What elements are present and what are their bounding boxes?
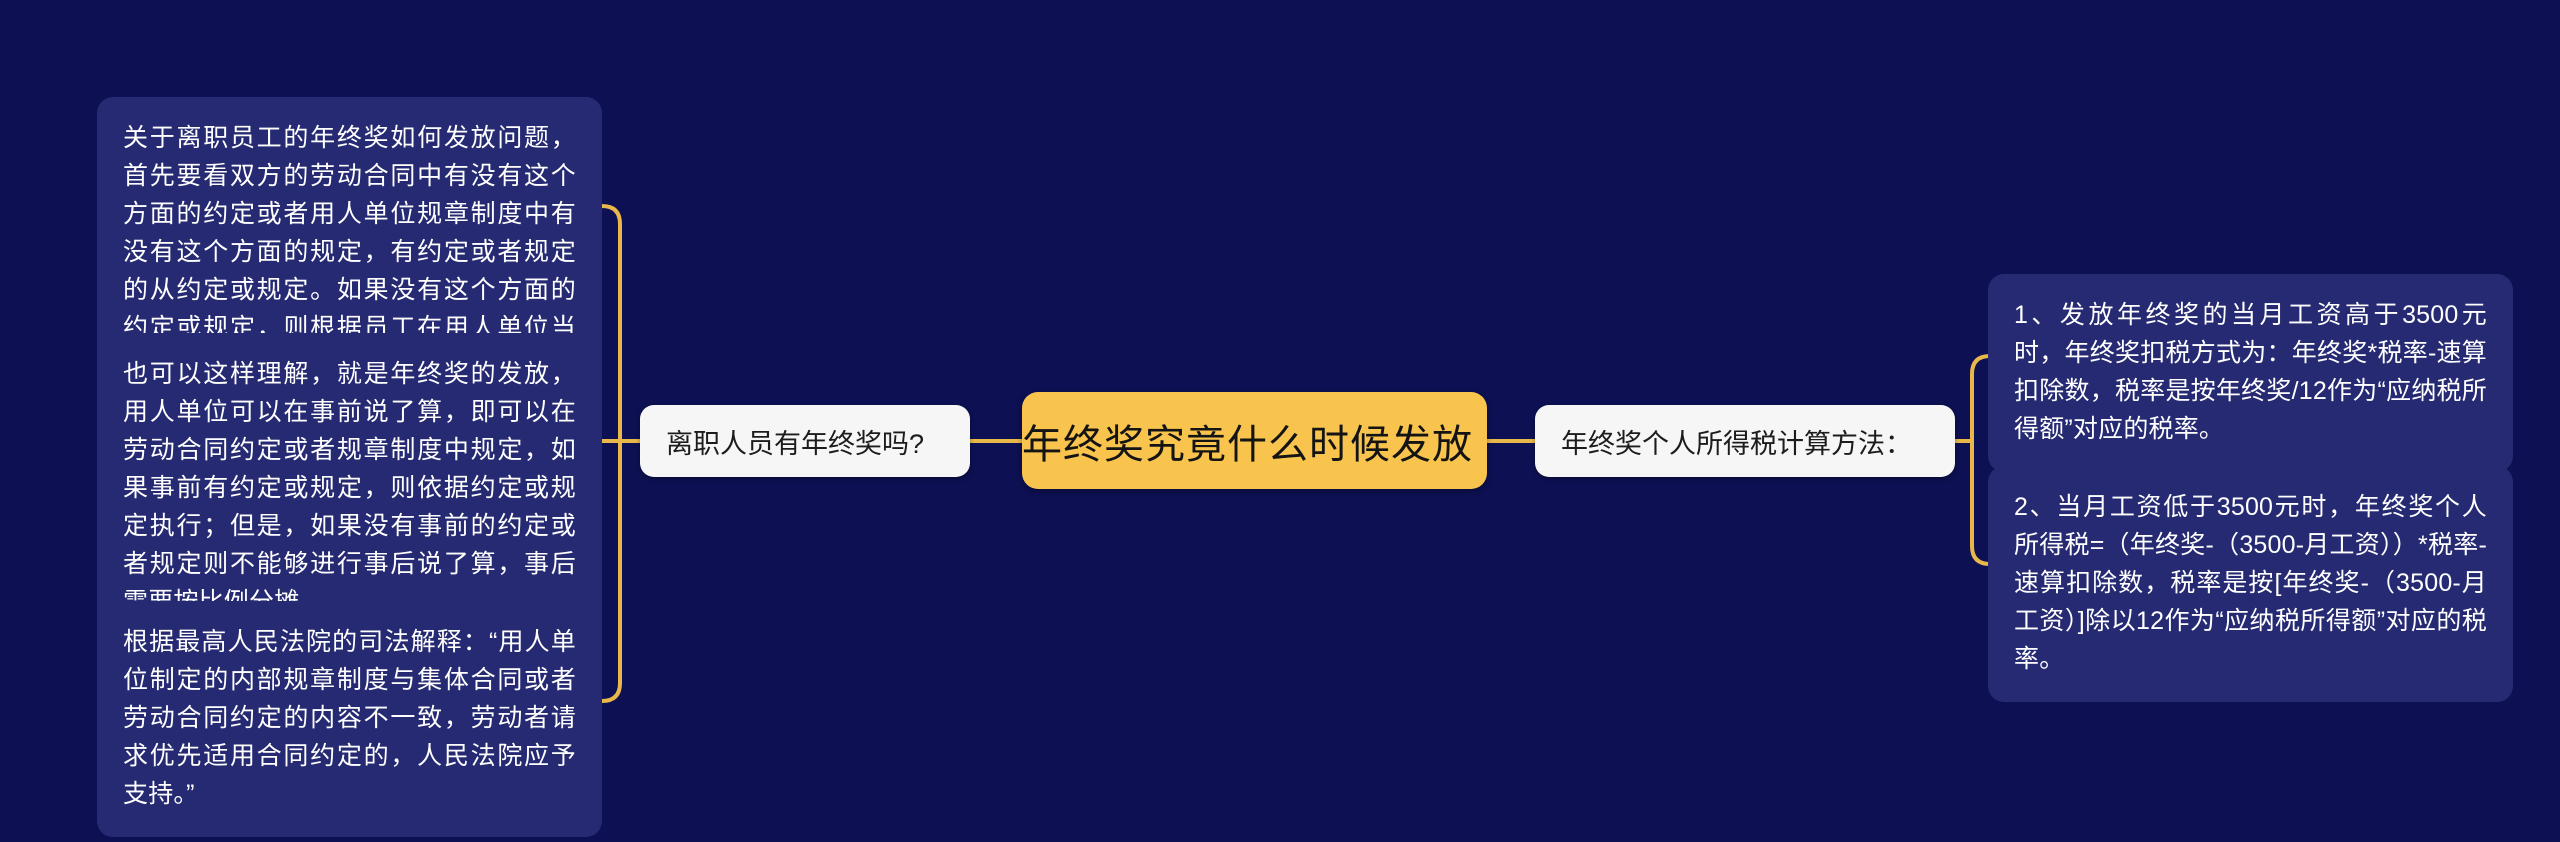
connector-left-leaf-3 [602,441,620,701]
connector-left-elbow-top [604,425,620,441]
left-leaf-text-2: 也可以这样理解，就是年终奖的发放，用人单位可以在事前说了算，即可以在劳动合同约定… [123,355,576,621]
left-leaf-card-2[interactable]: 也可以这样理解，就是年终奖的发放，用人单位可以在事前说了算，即可以在劳动合同约定… [97,333,602,645]
left-leaf-card-3[interactable]: 根据最高人民法院的司法解释：“用人单位制定的内部规章制度与集体合同或者劳动合同约… [97,601,602,837]
right-leaf-text-1: 1、发放年终奖的当月工资高于3500元时，年终奖扣税方式为：年终奖*税率-速算扣… [2014,296,2487,448]
branch-node-left[interactable]: 离职人员有年终奖吗? [640,405,970,477]
root-label: 年终奖究竟什么时候发放 [1022,412,1487,470]
connector-left-leaf-1 [602,206,620,441]
branch-node-right[interactable]: 年终奖个人所得税计算方法： [1535,405,1955,477]
root-node[interactable]: 年终奖究竟什么时候发放 [1022,392,1487,489]
left-leaf-text-3: 根据最高人民法院的司法解释：“用人单位制定的内部规章制度与集体合同或者劳动合同约… [123,623,576,813]
right-leaf-card-1[interactable]: 1、发放年终奖的当月工资高于3500元时，年终奖扣税方式为：年终奖*税率-速算扣… [1988,274,2513,472]
right-leaf-text-2: 2、当月工资低于3500元时，年终奖个人所得税=（年终奖-（3500-月工资））… [2014,488,2487,678]
branch-right-label: 年终奖个人所得税计算方法： [1561,422,1929,461]
mindmap-canvas: 关于离职员工的年终奖如何发放问题，首先要看双方的劳动合同中有没有这个方面的约定或… [0,0,2560,842]
right-leaf-card-2[interactable]: 2、当月工资低于3500元时，年终奖个人所得税=（年终奖-（3500-月工资））… [1988,466,2513,702]
branch-left-label: 离职人员有年终奖吗? [666,422,944,461]
